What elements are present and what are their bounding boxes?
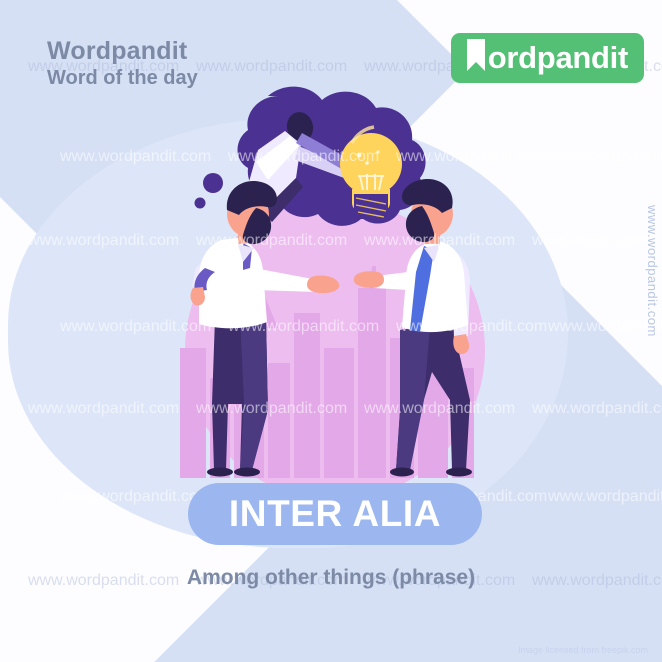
left-businessman bbox=[191, 181, 340, 477]
illustration bbox=[0, 0, 662, 662]
lightbulb-base bbox=[354, 194, 388, 219]
brand-title: Wordpandit bbox=[47, 38, 198, 64]
word-meaning: Among other things (phrase) bbox=[0, 566, 662, 590]
right-shoe bbox=[234, 468, 260, 477]
wordpandit-logo[interactable]: ordpandit bbox=[451, 33, 644, 83]
word-term: INTER ALIA bbox=[229, 493, 441, 535]
header: Wordpandit Word of the day bbox=[47, 38, 198, 89]
image-credit: Image licensed from freepik.com bbox=[518, 645, 648, 655]
word-badge: INTER ALIA bbox=[188, 483, 482, 545]
right-hand bbox=[354, 271, 384, 288]
thought-dot-small bbox=[195, 198, 206, 209]
right-fig-shoe-left bbox=[390, 468, 414, 477]
thought-dot-large bbox=[203, 173, 223, 193]
bookmark-icon bbox=[465, 39, 487, 75]
word-of-the-day-card: www.wordpandit.comwww.wordpandit.comwww.… bbox=[0, 0, 662, 662]
page-subtitle: Word of the day bbox=[47, 68, 198, 89]
watermark-vertical: www.wordpandit.com bbox=[645, 205, 660, 337]
logo-text: ordpandit bbox=[488, 42, 628, 73]
left-shoe bbox=[207, 468, 233, 477]
right-fig-shoe-right bbox=[446, 468, 472, 477]
left-hand bbox=[307, 275, 339, 293]
right-businessman bbox=[354, 179, 472, 477]
